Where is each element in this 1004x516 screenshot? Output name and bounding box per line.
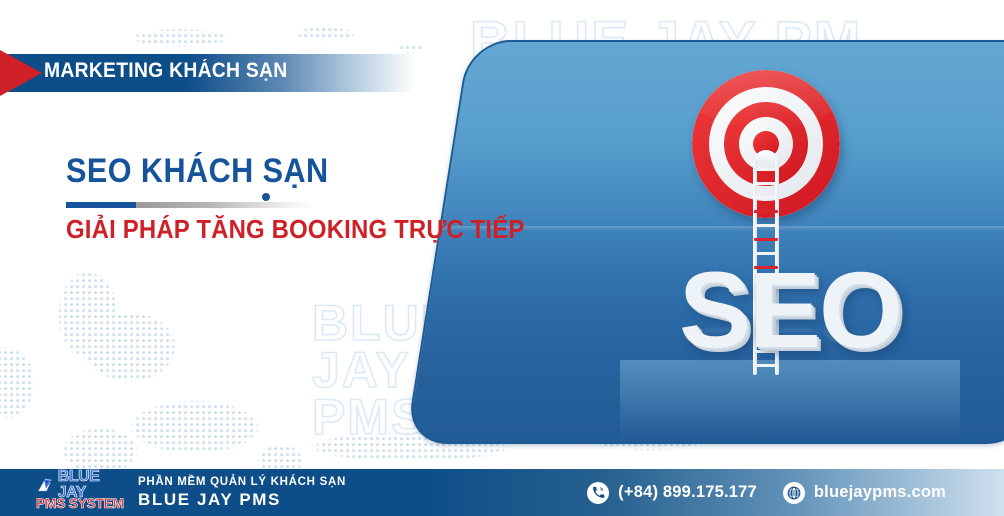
title-divider-blue — [66, 202, 136, 208]
phone-icon — [587, 482, 609, 504]
phone-number: (+84) 899.175.177 — [618, 483, 757, 502]
footer-bar: BLUE JAY PMS SYSTEM PHẦN MỀM QUẢN LÝ KHÁ… — [0, 469, 1004, 516]
page-title: SEO KHÁCH SẠN — [66, 152, 329, 191]
brand-tagline: PHẦN MỀM QUẢN LÝ KHÁCH SẠN — [138, 476, 346, 490]
ladder-rung — [754, 238, 778, 241]
arrow-right-icon — [0, 50, 42, 96]
ladder-rung — [754, 168, 778, 171]
ladder-rung — [754, 224, 778, 227]
logo-system: PMS SYSTEM — [36, 496, 124, 510]
marketing-banner: BLUE JAY PM BLUE JAY PMS — [0, 0, 1004, 516]
title-divider — [66, 202, 314, 208]
phone-contact[interactable]: (+84) 899.175.177 — [587, 482, 757, 504]
title-divider-grey — [136, 202, 314, 208]
brand-logo: BLUE JAY PMS SYSTEM — [36, 475, 124, 511]
brand-text-block: PHẦN MỀM QUẢN LÝ KHÁCH SẠN BLUE JAY PMS — [138, 476, 346, 509]
blue-jay-bird-icon — [36, 476, 56, 494]
website-url: bluejaypms.com — [814, 483, 946, 502]
logo-primary-row: BLUE JAY — [36, 476, 124, 495]
category-label: MARKETING KHÁCH SẠN — [44, 59, 288, 83]
seo-illustration: SEO SEO — [620, 60, 960, 430]
title-divider-dot — [262, 193, 270, 201]
website-contact[interactable]: bluejaypms.com — [783, 482, 946, 504]
brand-name: BLUE JAY PMS — [138, 490, 346, 510]
ladder-rung — [754, 182, 778, 185]
globe-icon — [783, 482, 805, 504]
reflective-floor — [620, 360, 960, 440]
ladder-rung — [754, 210, 778, 213]
ladder-rung — [754, 196, 778, 199]
contact-info: (+84) 899.175.177 bluejaypms.com — [587, 482, 946, 504]
page-subtitle: GIẢI PHÁP TĂNG BOOKING TRỰC TIẾP — [66, 214, 525, 245]
seo-word-3d: SEO — [620, 256, 960, 364]
